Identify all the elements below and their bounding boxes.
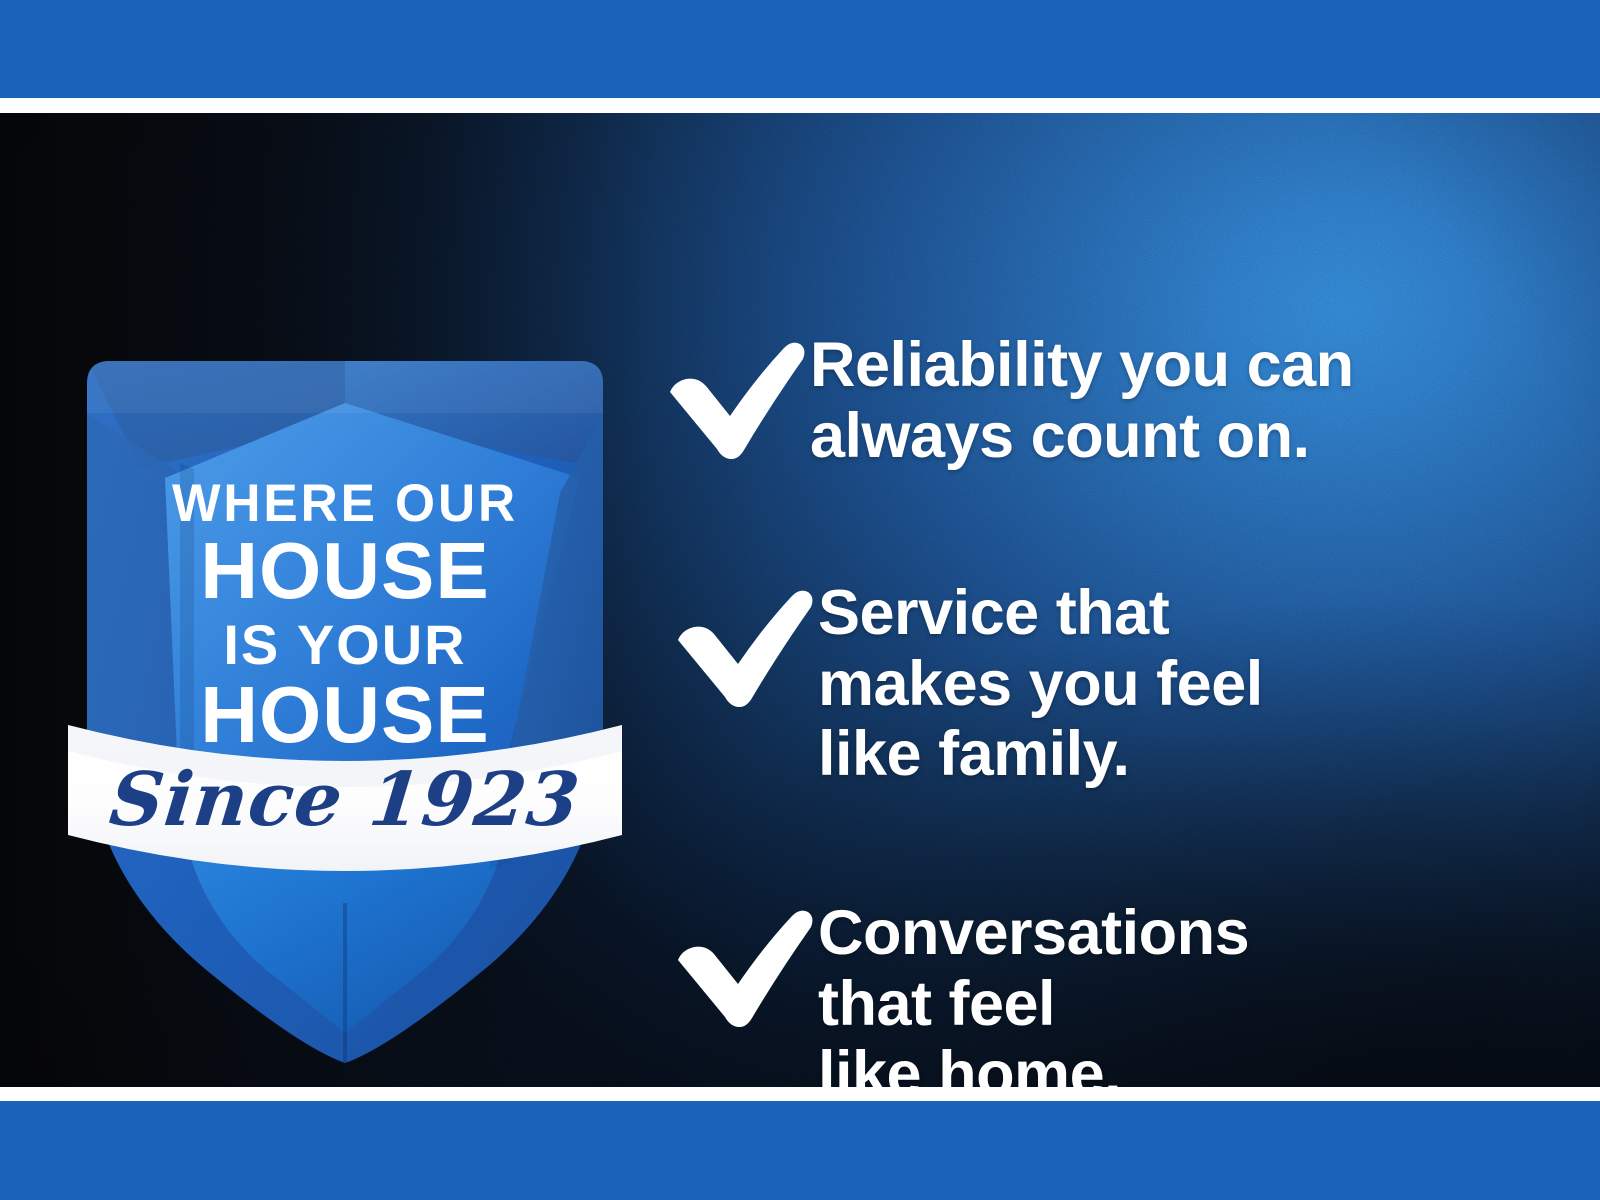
benefit-line: that feel [818, 969, 1249, 1040]
promo-graphic: WHERE OUR HOUSE IS YOUR HOUSE Since 1923… [0, 0, 1600, 1200]
shield-body [87, 361, 603, 1063]
benefits-list: Reliability you can always count on. Ser… [660, 226, 1560, 1087]
checkmark-icon [660, 334, 810, 459]
benefit-item: Conversations that feel like home. [660, 898, 1560, 1087]
main-canvas: WHERE OUR HOUSE IS YOUR HOUSE Since 1923… [0, 113, 1600, 1087]
benefit-text: Service that makes you feel like family. [818, 578, 1263, 790]
bottom-brand-bar [0, 1101, 1600, 1200]
benefit-line: Conversations [818, 898, 1249, 969]
checkmark-icon [668, 902, 818, 1027]
top-brand-bar [0, 0, 1600, 98]
benefit-line: makes you feel [818, 649, 1263, 720]
shield-badge-graphic [60, 263, 630, 1073]
benefit-line: like family. [818, 719, 1263, 790]
benefit-line: Service that [818, 578, 1263, 649]
benefit-item: Service that makes you feel like family. [660, 578, 1560, 790]
benefit-line: like home. [818, 1039, 1249, 1087]
shield-badge: WHERE OUR HOUSE IS YOUR HOUSE Since 1923 [60, 263, 630, 1073]
benefit-text: Reliability you can always count on. [810, 330, 1354, 471]
benefit-text: Conversations that feel like home. [818, 898, 1249, 1087]
checkmark-icon [668, 582, 818, 707]
benefit-item: Reliability you can always count on. [660, 330, 1560, 471]
benefit-line: Reliability you can [810, 330, 1354, 401]
benefit-line: always count on. [810, 401, 1354, 472]
